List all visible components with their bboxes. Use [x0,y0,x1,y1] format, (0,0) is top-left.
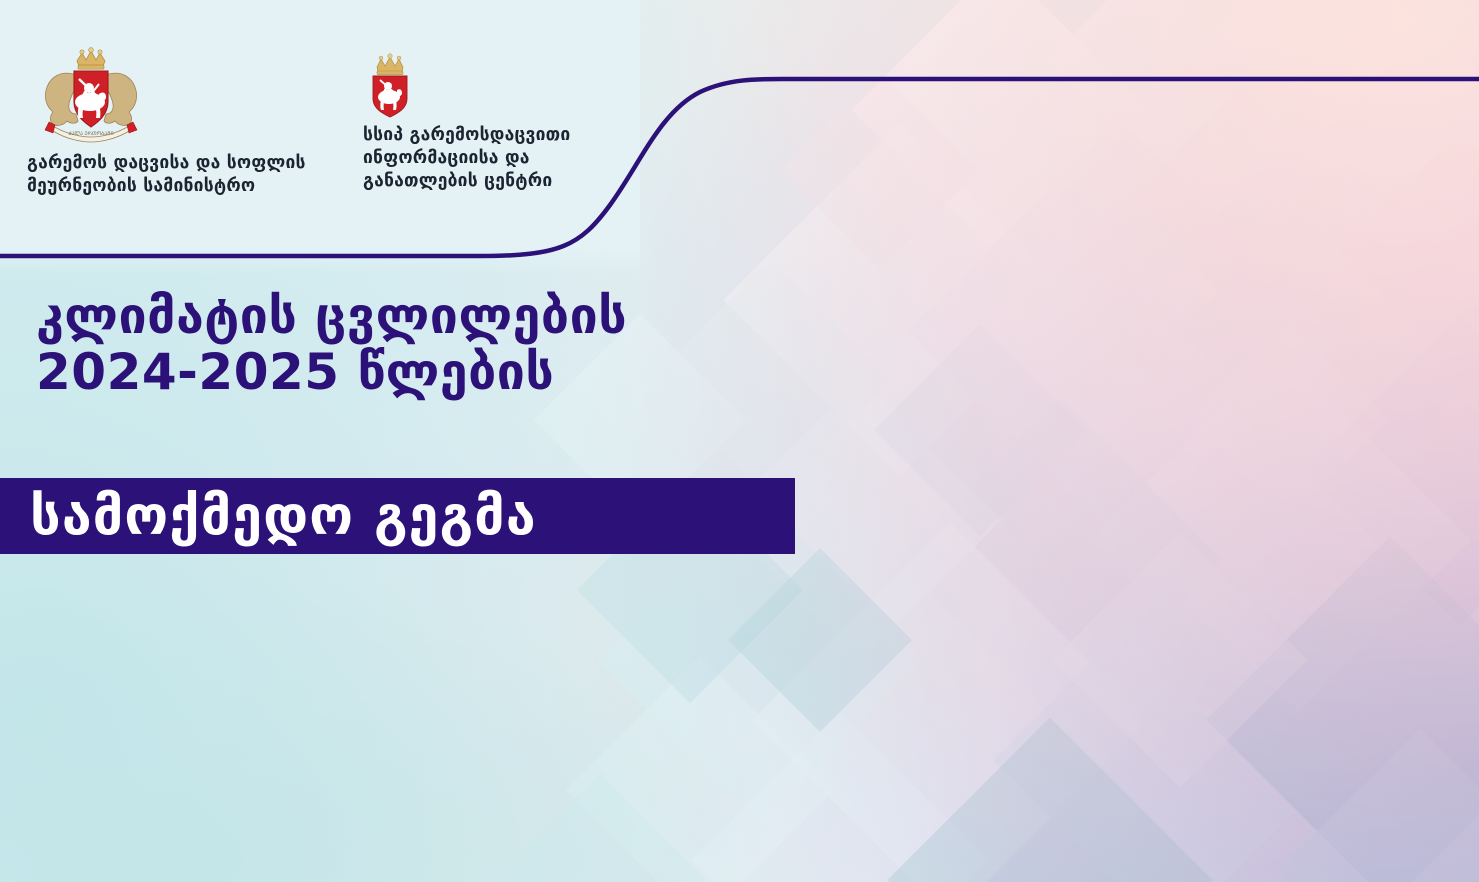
header-logos: ᲫᲐᲚᲐ ᲔᲠᲗᲝᲑᲐᲨᲘ გარემოს დაცვისა და სოფლის … [0,0,640,230]
highlight-banner: სამოქმედო გეგმა [0,478,795,554]
center-logo-line-2: ინფორმაციისა და [363,147,613,170]
page-title: კლიმატის ცვლილების 2024-2025 წლების [36,288,856,400]
georgia-coat-of-arms-emblem: ᲫᲐᲚᲐ ᲔᲠᲗᲝᲑᲐᲨᲘ [33,44,149,144]
ministry-logo-line-2: მეურნეობის სამინისტრო [27,175,327,198]
highlight-banner-label: სამოქმედო გეგმა [30,489,537,543]
svg-text:ᲫᲐᲚᲐ ᲔᲠᲗᲝᲑᲐᲨᲘ: ᲫᲐᲚᲐ ᲔᲠᲗᲝᲑᲐᲨᲘ [68,131,113,137]
center-logo-line-1: სსიპ გარემოსდაცვითი [363,124,613,147]
center-logo: სსიპ გარემოსდაცვითი ინფორმაციისა და განა… [363,52,613,193]
crowned-shield-emblem [365,52,423,118]
ministry-logo-text: გარემოს დაცვისა და სოფლის მეურნეობის სამ… [27,152,327,198]
center-logo-line-3: განათლების ცენტრი [363,170,613,193]
center-logo-text: სსიპ გარემოსდაცვითი ინფორმაციისა და განა… [363,124,613,193]
cover-page: ᲫᲐᲚᲐ ᲔᲠᲗᲝᲑᲐᲨᲘ გარემოს დაცვისა და სოფლის … [0,0,1479,882]
page-title-line-1: კლიმატის ცვლილების [36,288,856,344]
page-title-line-2: 2024-2025 წლების [36,344,856,400]
ministry-logo-line-1: გარემოს დაცვისა და სოფლის [27,152,327,175]
ministry-logo: ᲫᲐᲚᲐ ᲔᲠᲗᲝᲑᲐᲨᲘ გარემოს დაცვისა და სოფლის … [27,44,327,198]
